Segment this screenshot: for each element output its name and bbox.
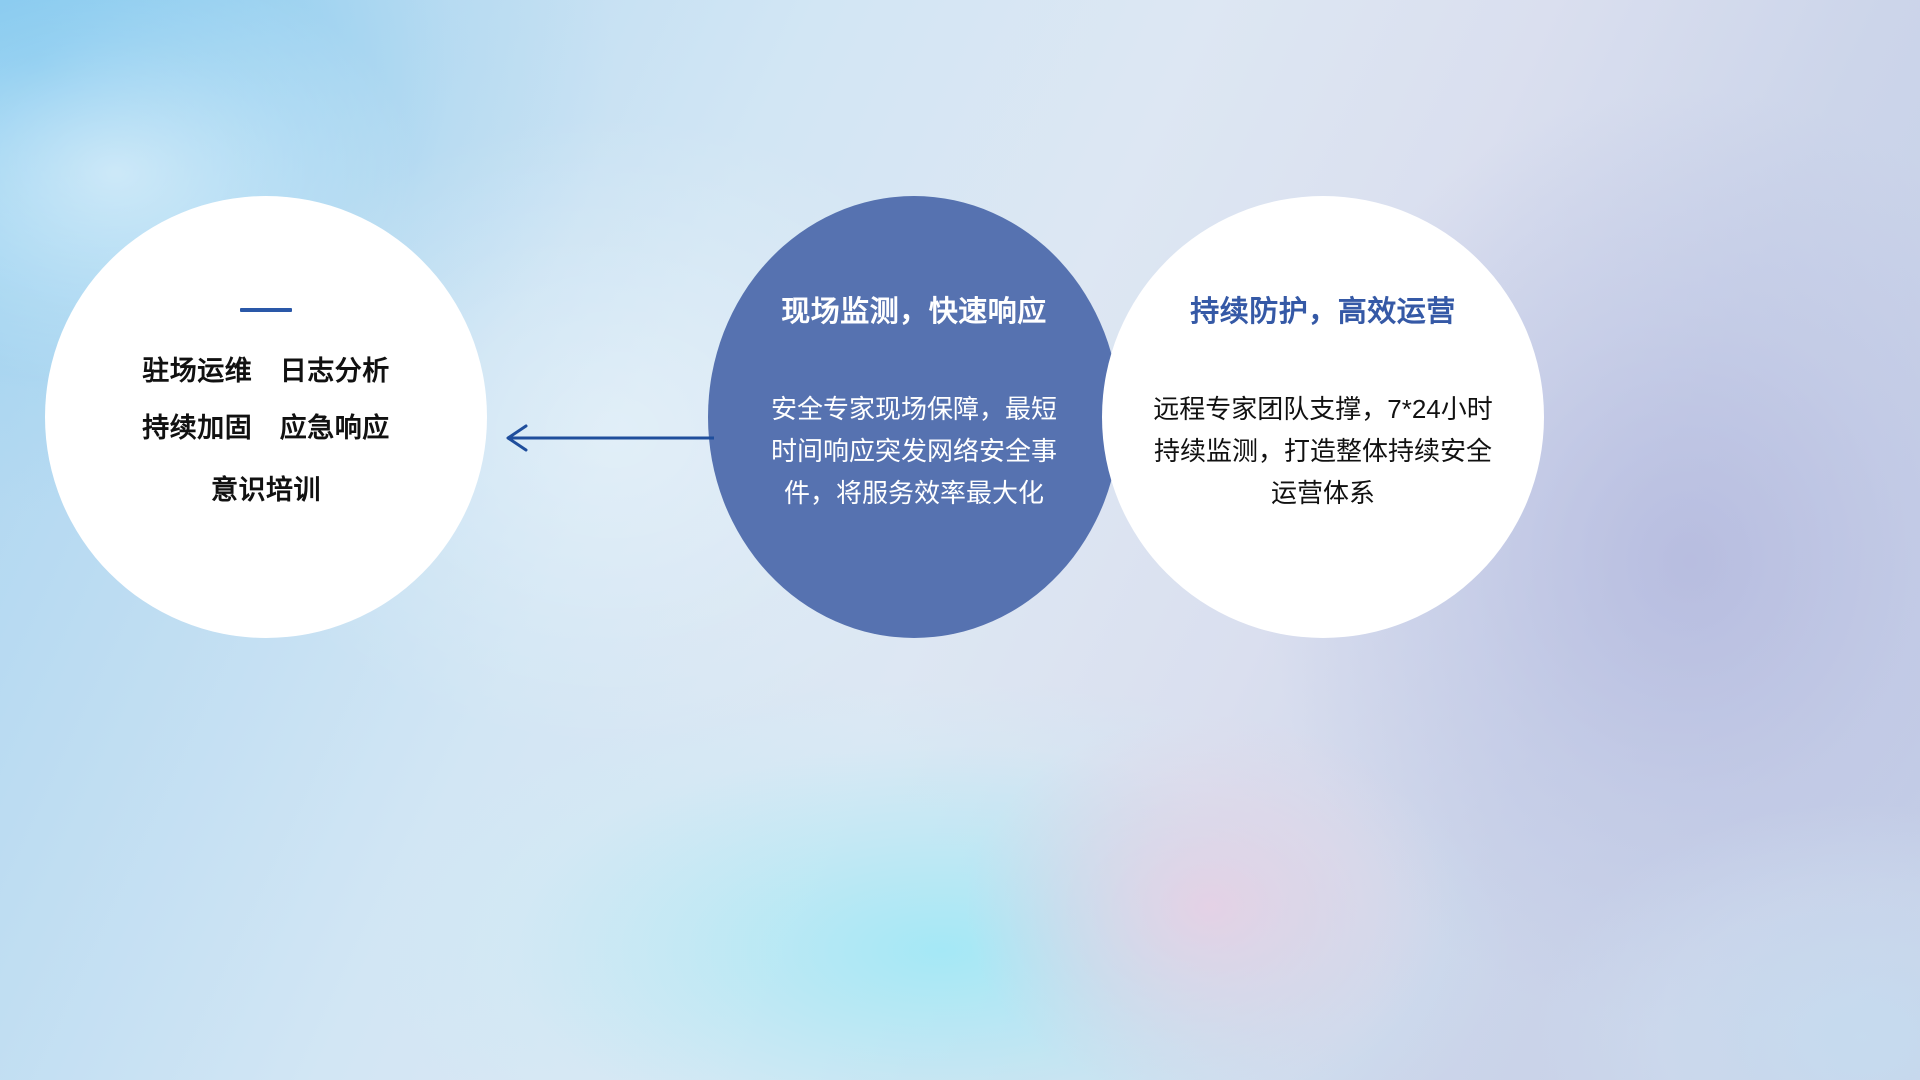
right-circle-title: 持续防护，高效运营 bbox=[1190, 288, 1456, 330]
middle-circle-body: 安全专家现场保障，最短时间响应突发网络安全事件，将服务效率最大化 bbox=[764, 388, 1064, 514]
left-circle-divider bbox=[240, 308, 292, 312]
left-circle-line-3: 意识培训 bbox=[211, 476, 321, 504]
left-circle-content: 驻场运维 日志分析 持续加固 应急响应 意识培训 bbox=[45, 196, 487, 638]
infographic-slide: 驻场运维 日志分析 持续加固 应急响应 意识培训 现场监测，快速响应 安全专家现… bbox=[0, 0, 1920, 1080]
middle-circle-title: 现场监测，快速响应 bbox=[781, 288, 1047, 330]
right-circle-content: 持续防护，高效运营 远程专家团队支撑，7*24小时持续监测，打造整体持续安全运营… bbox=[1102, 196, 1544, 638]
right-circle-body: 远程专家团队支撑，7*24小时持续监测，打造整体持续安全运营体系 bbox=[1148, 388, 1498, 514]
left-circle-line-2: 持续加固 应急响应 bbox=[142, 414, 390, 442]
left-circle-line-1: 驻场运维 日志分析 bbox=[142, 357, 390, 385]
middle-circle-content: 现场监测，快速响应 安全专家现场保障，最短时间响应突发网络安全事件，将服务效率最… bbox=[708, 196, 1120, 638]
left-pointing-arrow-icon bbox=[488, 408, 714, 468]
